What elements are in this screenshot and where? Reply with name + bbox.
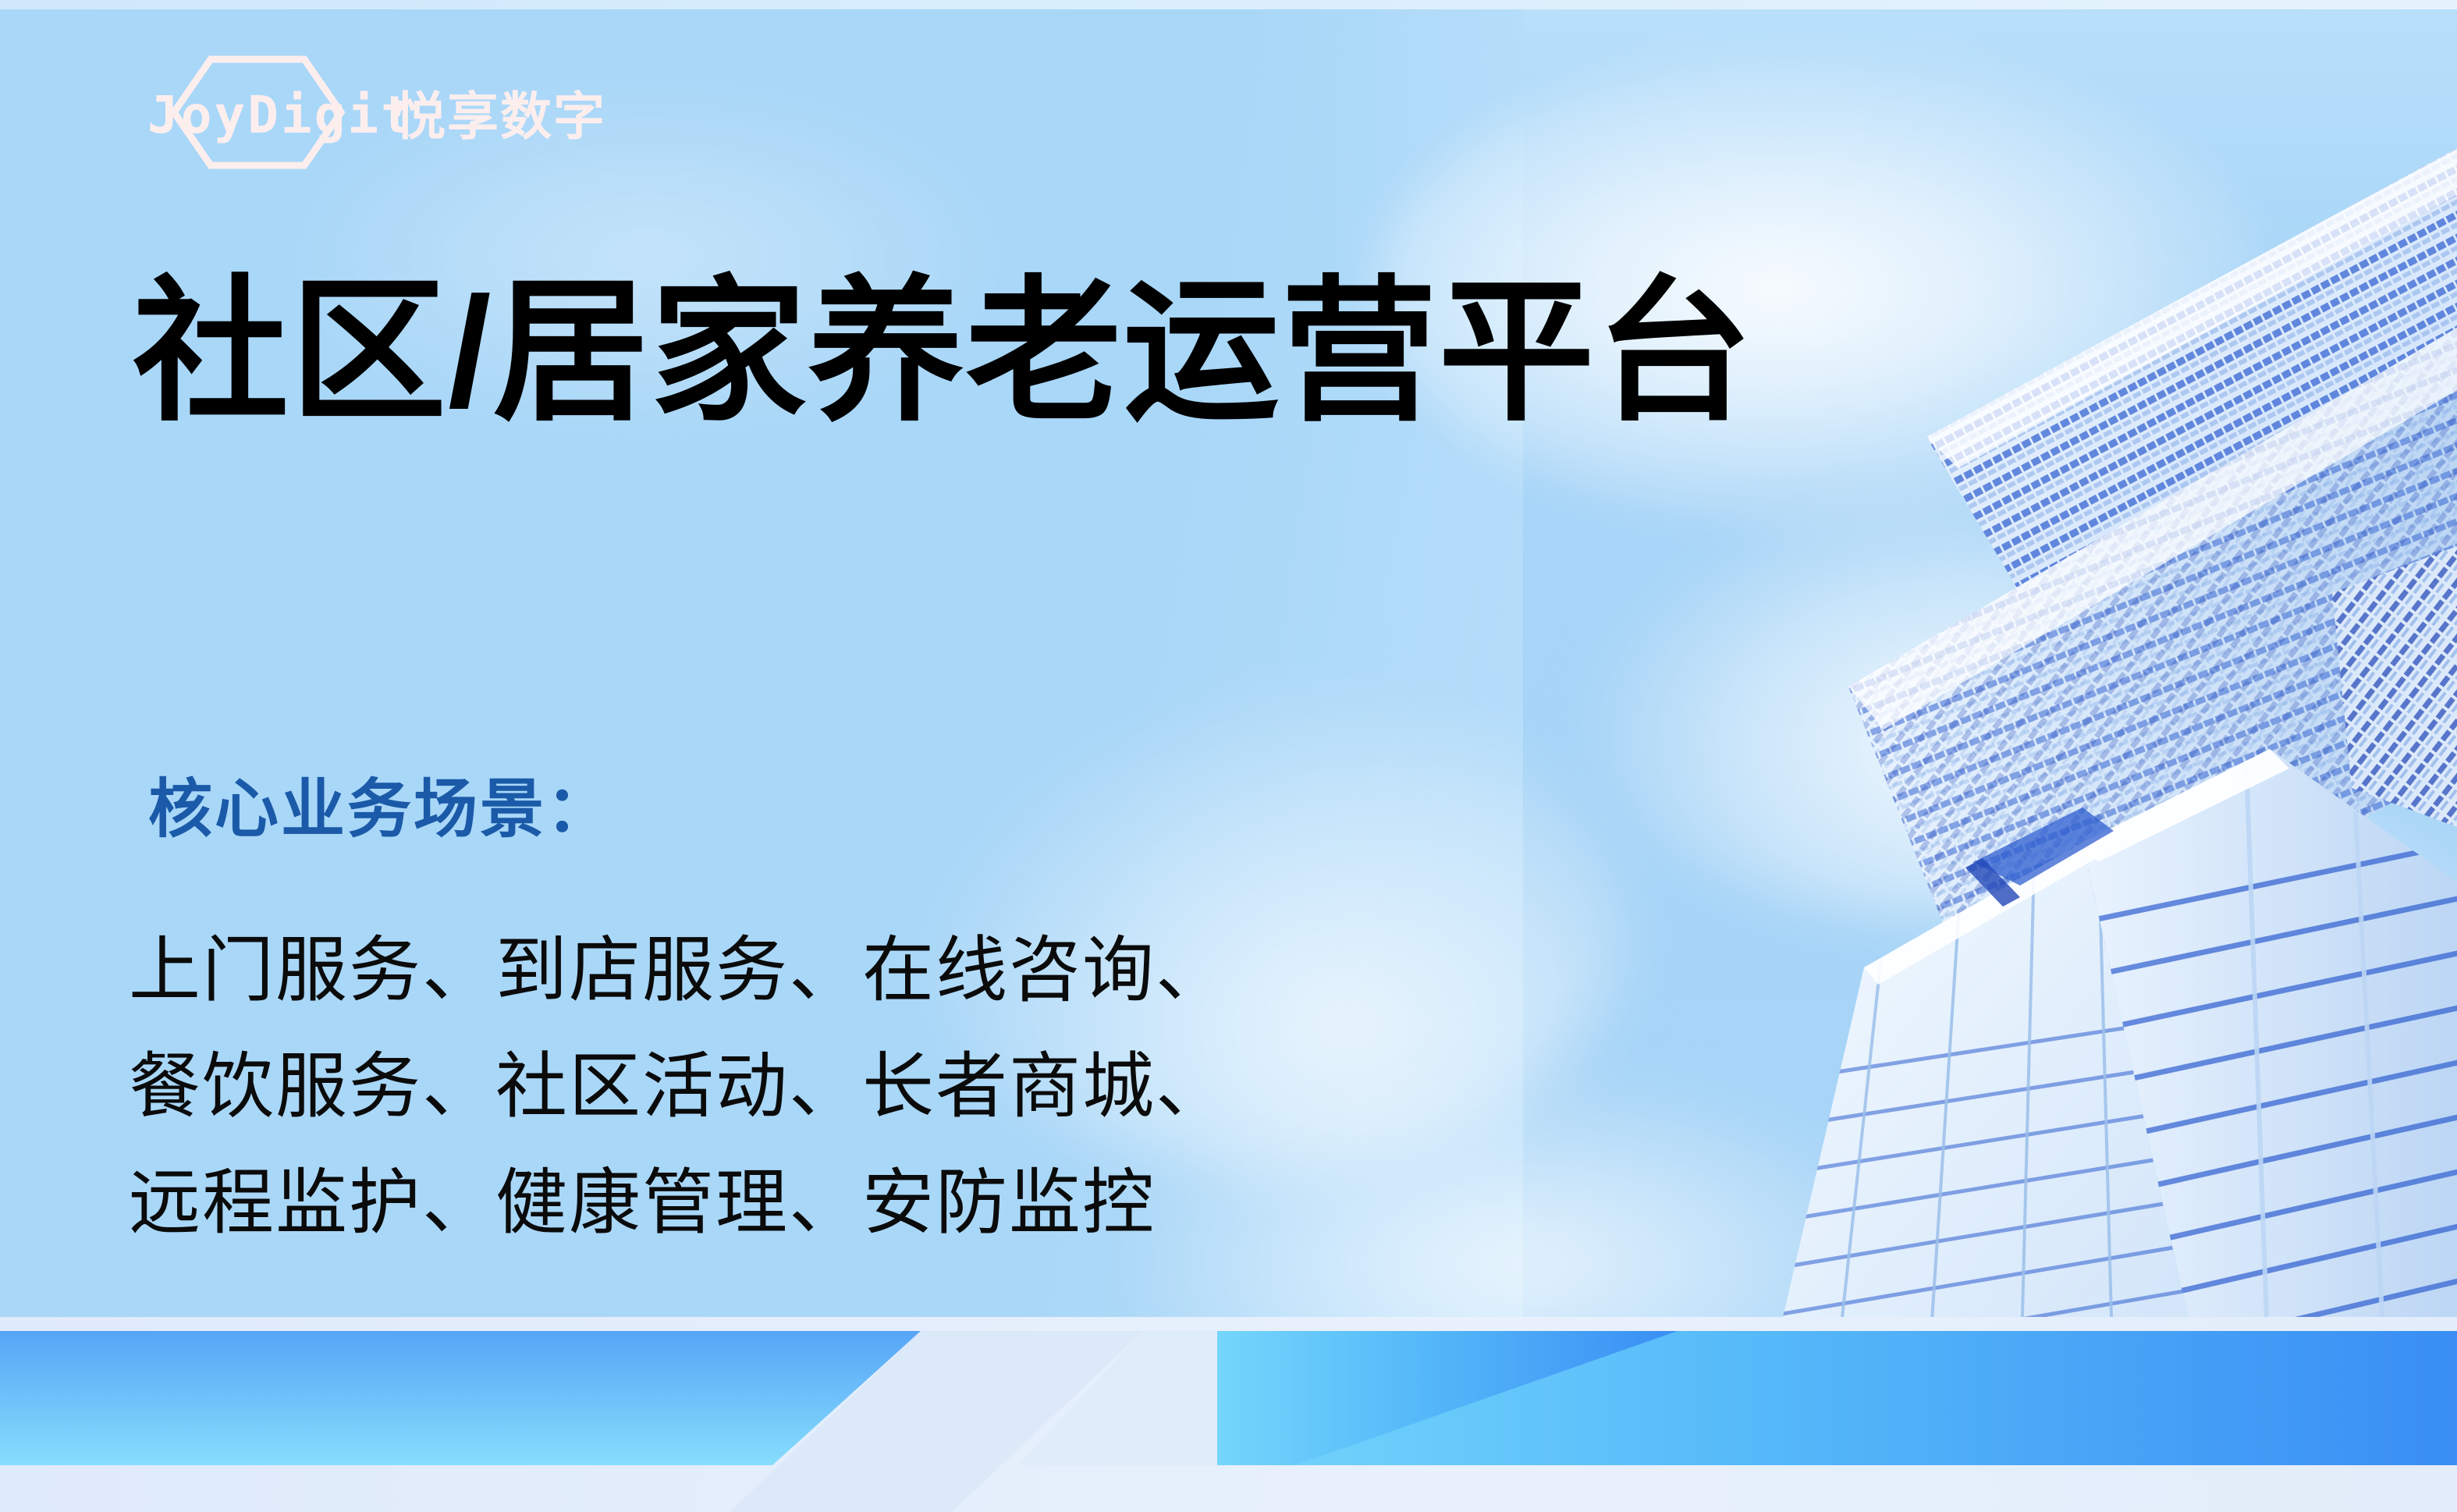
scenario-list: 上门服务、到店服务、在线咨询、 餐饮服务、社区活动、长者商城、 远程监护、健康管… xyxy=(129,913,1229,1262)
slide-root: JoyDigit 悦享数字 社区/居家养老运营平台 核心业务场景： 上门服务、到… xyxy=(0,0,2457,1512)
bottom-decor-band xyxy=(0,1317,2457,1512)
logo-latin-text: JoyDigit xyxy=(147,85,414,145)
sky-left-wash xyxy=(0,0,1523,1512)
logo-cn-text: 悦享数字 xyxy=(394,87,606,145)
scenario-line: 餐饮服务、社区活动、长者商城、 xyxy=(129,1029,1229,1145)
page-title: 社区/居家养老运营平台 xyxy=(133,257,1754,448)
scenario-line: 上门服务、到店服务、在线咨询、 xyxy=(129,913,1229,1029)
scenario-line: 远程监护、健康管理、安防监控 xyxy=(129,1145,1229,1262)
skyscraper-photo xyxy=(1427,0,2457,1404)
section-subtitle: 核心业务场景： xyxy=(148,768,612,852)
brand-logo: JoyDigit 悦享数字 xyxy=(137,48,683,189)
